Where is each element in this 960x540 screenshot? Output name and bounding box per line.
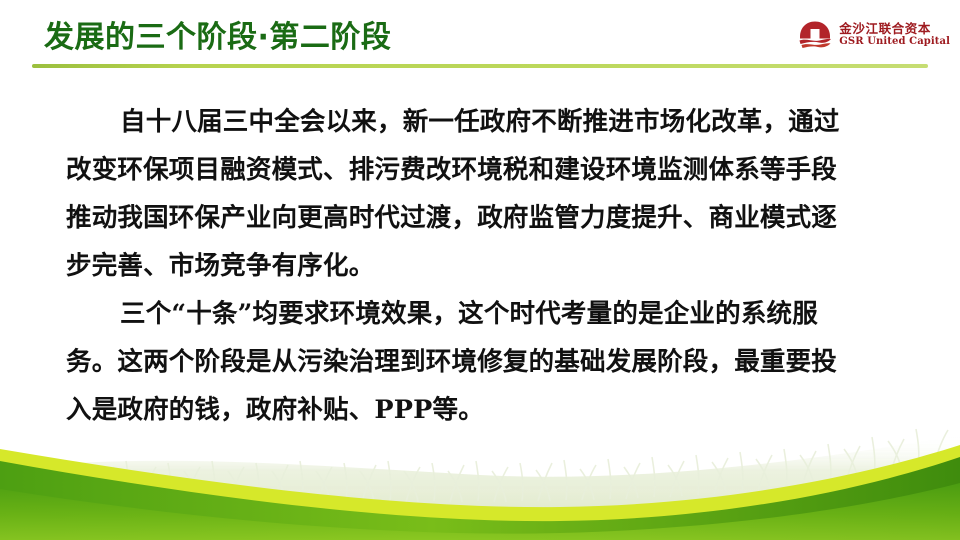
slide-canvas: 发展的三个阶段·第二阶段 金沙江联合资本 GSR United Capital … bbox=[0, 0, 960, 540]
brand-name-cn: 金沙江联合资本 bbox=[839, 22, 950, 36]
brand-logo: 金沙江联合资本 GSR United Capital bbox=[798, 20, 950, 50]
text-line: 三个“十条”均要求环境效果，这个时代考量的是企业的系统服 bbox=[66, 290, 906, 338]
text-line: 自十八届三中全会以来，新一任政府不断推进市场化改革，通过 bbox=[66, 98, 906, 146]
paragraph-1: 自十八届三中全会以来，新一任政府不断推进市场化改革，通过 改变环保项目融资模式、… bbox=[66, 98, 906, 290]
body-text-block: 自十八届三中全会以来，新一任政府不断推进市场化改革，通过 改变环保项目融资模式、… bbox=[66, 98, 906, 434]
page-title: 发展的三个阶段·第二阶段 bbox=[44, 19, 391, 57]
grass-hill-footer bbox=[0, 405, 960, 540]
title-divider bbox=[32, 64, 928, 68]
text-line: 步完善、市场竞争有序化。 bbox=[66, 242, 906, 290]
brand-name-en: GSR United Capital bbox=[839, 37, 950, 48]
text-line: 改变环保项目融资模式、排污费改环境税和建设环境监测体系等手段 bbox=[66, 146, 906, 194]
text-line: 务。这两个阶段是从污染治理到环境修复的基础发展阶段，最重要投 bbox=[66, 338, 906, 386]
text-line: 推动我国环保产业向更高时代过渡，政府监管力度提升、商业模式逐 bbox=[66, 194, 906, 242]
red-arch-wave-logo-icon bbox=[798, 20, 832, 50]
brand-logo-text: 金沙江联合资本 GSR United Capital bbox=[839, 22, 950, 47]
